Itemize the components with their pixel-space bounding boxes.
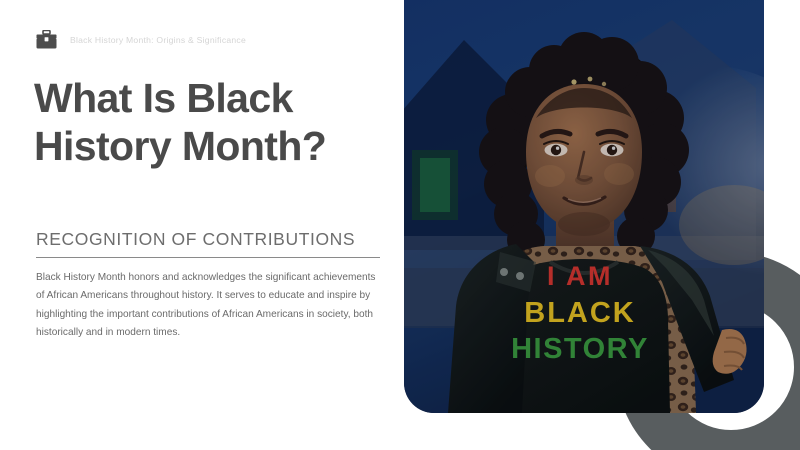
breadcrumb-label: Black History Month: Origins & Significa…	[70, 35, 246, 45]
section-subheading: RECOGNITION OF CONTRIBUTIONS	[36, 229, 355, 250]
briefcase-icon	[36, 30, 57, 49]
slide-canvas: Black History Month: Origins & Significa…	[0, 0, 800, 450]
hero-photo: I AM BLACK HISTORY	[404, 0, 764, 413]
section-divider	[36, 257, 380, 258]
section-body-text: Black History Month honors and acknowled…	[36, 269, 376, 342]
breadcrumb: Black History Month: Origins & Significa…	[36, 30, 246, 49]
page-title: What Is Black History Month?	[34, 74, 374, 171]
left-content-column: Black History Month: Origins & Significa…	[0, 0, 404, 450]
